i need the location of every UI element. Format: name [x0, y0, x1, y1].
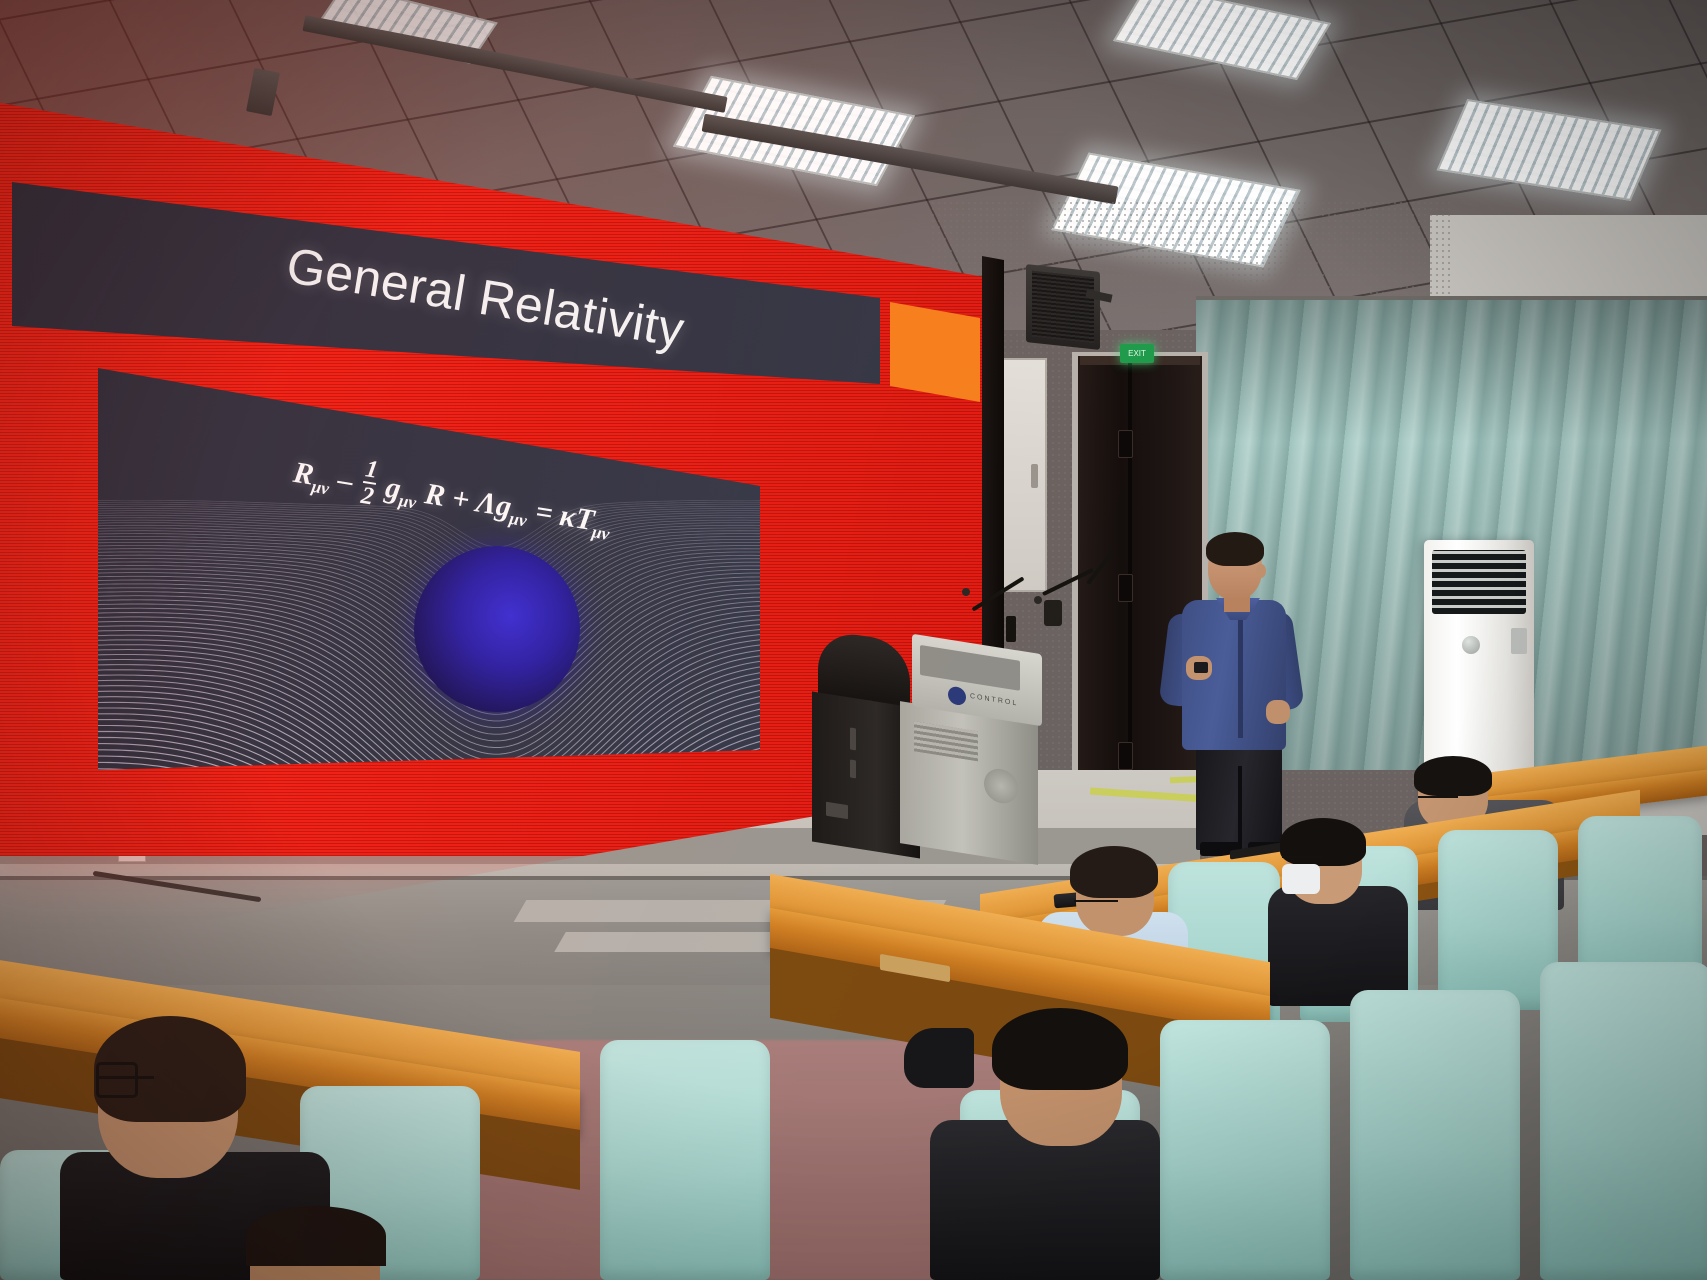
cabinet-vent [914, 721, 978, 761]
eq-stress-tensor: κTμν [557, 499, 613, 540]
massive-body-sphere [414, 546, 580, 712]
eq-one-half: 1 2 [359, 457, 379, 509]
audience-hair [1414, 756, 1492, 796]
led-wall-side-edge [982, 256, 1004, 692]
presentation-clicker[interactable] [1194, 662, 1208, 673]
auditorium-seat[interactable] [600, 1040, 770, 1280]
wall-speaker [1026, 264, 1100, 350]
console-screen [920, 645, 1020, 691]
podium-mic-stem [1006, 616, 1016, 642]
audience-hair [992, 1008, 1128, 1090]
presenter-leg-seam [1238, 766, 1242, 850]
audience-hair [1280, 818, 1366, 866]
auditorium-seat[interactable] [1540, 962, 1707, 1280]
podium-mic-capsule-icon [962, 588, 970, 596]
presenter-hair [1206, 532, 1264, 566]
rack-led-icon [850, 759, 856, 778]
seat-back [1540, 962, 1707, 1280]
glasses-lens-icon [96, 1062, 138, 1098]
seat-back [1350, 990, 1520, 1280]
seat-back [600, 1040, 770, 1280]
microphone-base [1044, 600, 1062, 626]
presenter-ear [1256, 564, 1266, 578]
glasses-icon [1282, 856, 1322, 858]
seat-back [1160, 1020, 1330, 1280]
audience-hair [246, 1206, 386, 1266]
eq-plus: + [450, 482, 472, 517]
rack-led-icon [850, 727, 856, 750]
eq-ricci: Rμν [291, 456, 333, 495]
cabinet-emblem-icon [984, 766, 1018, 805]
presenter-right-hand [1266, 700, 1290, 724]
door-handle-icon[interactable] [1118, 430, 1133, 458]
audience-hair [1070, 846, 1158, 898]
speaker-grill [1032, 271, 1094, 344]
eq-metric: gμν [383, 471, 420, 509]
audience-arm-shadow [904, 1028, 974, 1088]
auditorium-seat[interactable] [1160, 1020, 1330, 1280]
auditorium-seat[interactable] [1350, 990, 1520, 1280]
exit-sign-label: EXIT [1128, 350, 1146, 358]
door-handle-icon[interactable] [1118, 742, 1133, 770]
door-handle-icon[interactable] [1118, 574, 1133, 602]
lecture-hall-photo: EXIT General Relativity [0, 0, 1707, 1280]
slide-accent-block [890, 302, 980, 402]
av-equipment-cabinet[interactable] [900, 701, 1038, 865]
eq-equals: = [533, 495, 555, 530]
microphone-capsule-icon [1034, 596, 1042, 604]
exit-sign-icon: EXIT [1120, 344, 1154, 363]
rack-port [826, 802, 848, 819]
ac-louvers [1432, 550, 1526, 614]
face-mask [1282, 864, 1320, 894]
glasses-icon [1418, 796, 1458, 798]
eq-minus: – [335, 463, 355, 498]
presenter-shirt-placket [1238, 608, 1243, 738]
console-brand-text: CONTROL [970, 693, 1018, 708]
audience-torso [1268, 886, 1408, 1006]
console-logo-icon [948, 685, 966, 706]
glasses-icon [1074, 900, 1118, 902]
panel-handle-icon[interactable] [1031, 464, 1038, 488]
ac-brand-icon [1462, 636, 1480, 654]
ac-label-badge [1511, 628, 1527, 654]
eq-lambda-term: Λgμν [474, 486, 531, 527]
eq-scalar: R [423, 477, 448, 513]
